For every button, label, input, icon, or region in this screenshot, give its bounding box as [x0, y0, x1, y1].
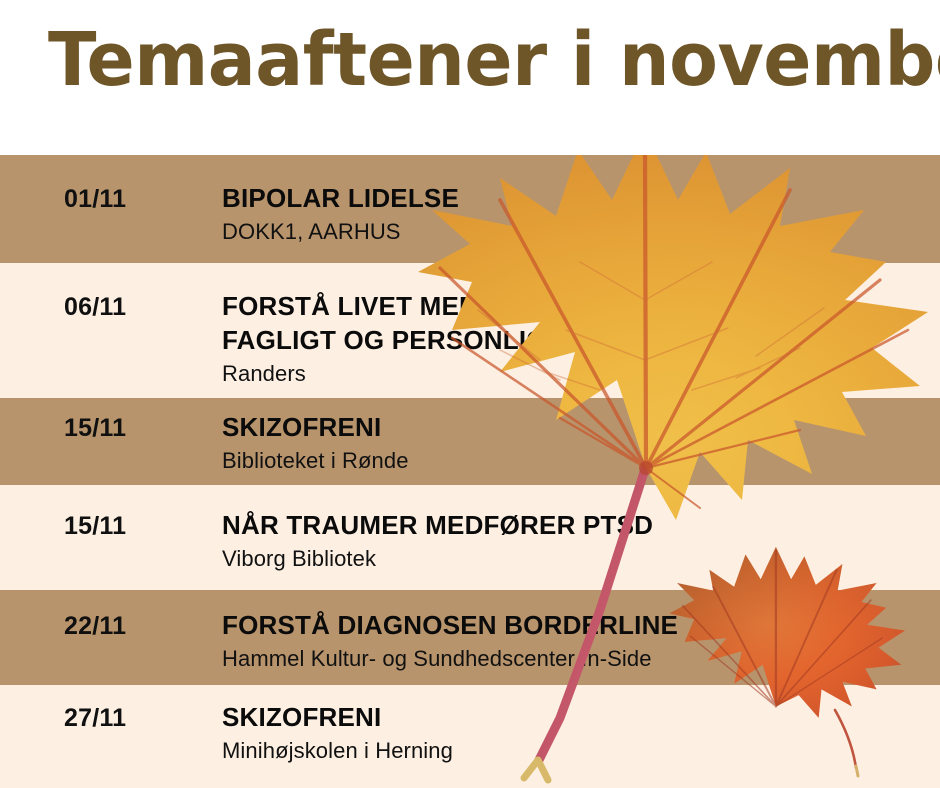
row-title: BIPOLAR LIDELSE [222, 182, 930, 216]
schedule-row: 22/11 FORSTÅ DIAGNOSEN BORDERLINE Hammel… [0, 590, 940, 685]
row-text-block: FORSTÅ LIVET MED AUTISME UD FRA ET FAGLI… [222, 290, 930, 388]
row-text-block: FORSTÅ DIAGNOSEN BORDERLINE Hammel Kultu… [222, 609, 930, 673]
row-text-block: SKIZOFRENI Minihøjskolen i Herning [222, 701, 930, 765]
poster-header: Temaaftener i november [0, 0, 940, 155]
row-title-line2: FAGLIGT OG PERSONLIGT PERSPEKTIV [222, 324, 930, 358]
schedule-row: 01/11 BIPOLAR LIDELSE DOKK1, AARHUS [0, 155, 940, 263]
row-date: 01/11 [64, 185, 126, 214]
row-title: FORSTÅ LIVET MED AUTISME UD FRA ET [222, 290, 930, 324]
poster-canvas: 01/11 BIPOLAR LIDELSE DOKK1, AARHUS 06/1… [0, 0, 940, 788]
row-venue: Viborg Bibliotek [222, 545, 930, 574]
row-text-block: SKIZOFRENI Biblioteket i Rønde [222, 411, 930, 475]
row-date: 06/11 [64, 293, 126, 322]
row-title: SKIZOFRENI [222, 701, 930, 735]
row-title: NÅR TRAUMER MEDFØRER PTSD [222, 509, 930, 543]
row-venue: Minihøjskolen i Herning [222, 737, 930, 766]
row-text-block: BIPOLAR LIDELSE DOKK1, AARHUS [222, 182, 930, 246]
row-text-block: NÅR TRAUMER MEDFØRER PTSD Viborg Bibliot… [222, 509, 930, 573]
row-venue: Randers [222, 360, 930, 389]
schedule-row: 06/11 FORSTÅ LIVET MED AUTISME UD FRA ET… [0, 263, 940, 398]
schedule-row: 27/11 SKIZOFRENI Minihøjskolen i Herning [0, 685, 940, 788]
page-title: Temaaftener i november [48, 23, 940, 97]
row-venue: Biblioteket i Rønde [222, 447, 930, 476]
schedule-row: 15/11 NÅR TRAUMER MEDFØRER PTSD Viborg B… [0, 485, 940, 590]
row-venue: Hammel Kultur- og Sundhedscenter In-Side [222, 645, 930, 674]
row-venue: DOKK1, AARHUS [222, 218, 930, 247]
row-date: 15/11 [64, 512, 126, 541]
row-date: 27/11 [64, 704, 126, 733]
row-date: 15/11 [64, 414, 126, 443]
row-title: SKIZOFRENI [222, 411, 930, 445]
schedule-row: 15/11 SKIZOFRENI Biblioteket i Rønde [0, 398, 940, 485]
row-title: FORSTÅ DIAGNOSEN BORDERLINE [222, 609, 930, 643]
row-date: 22/11 [64, 612, 126, 641]
